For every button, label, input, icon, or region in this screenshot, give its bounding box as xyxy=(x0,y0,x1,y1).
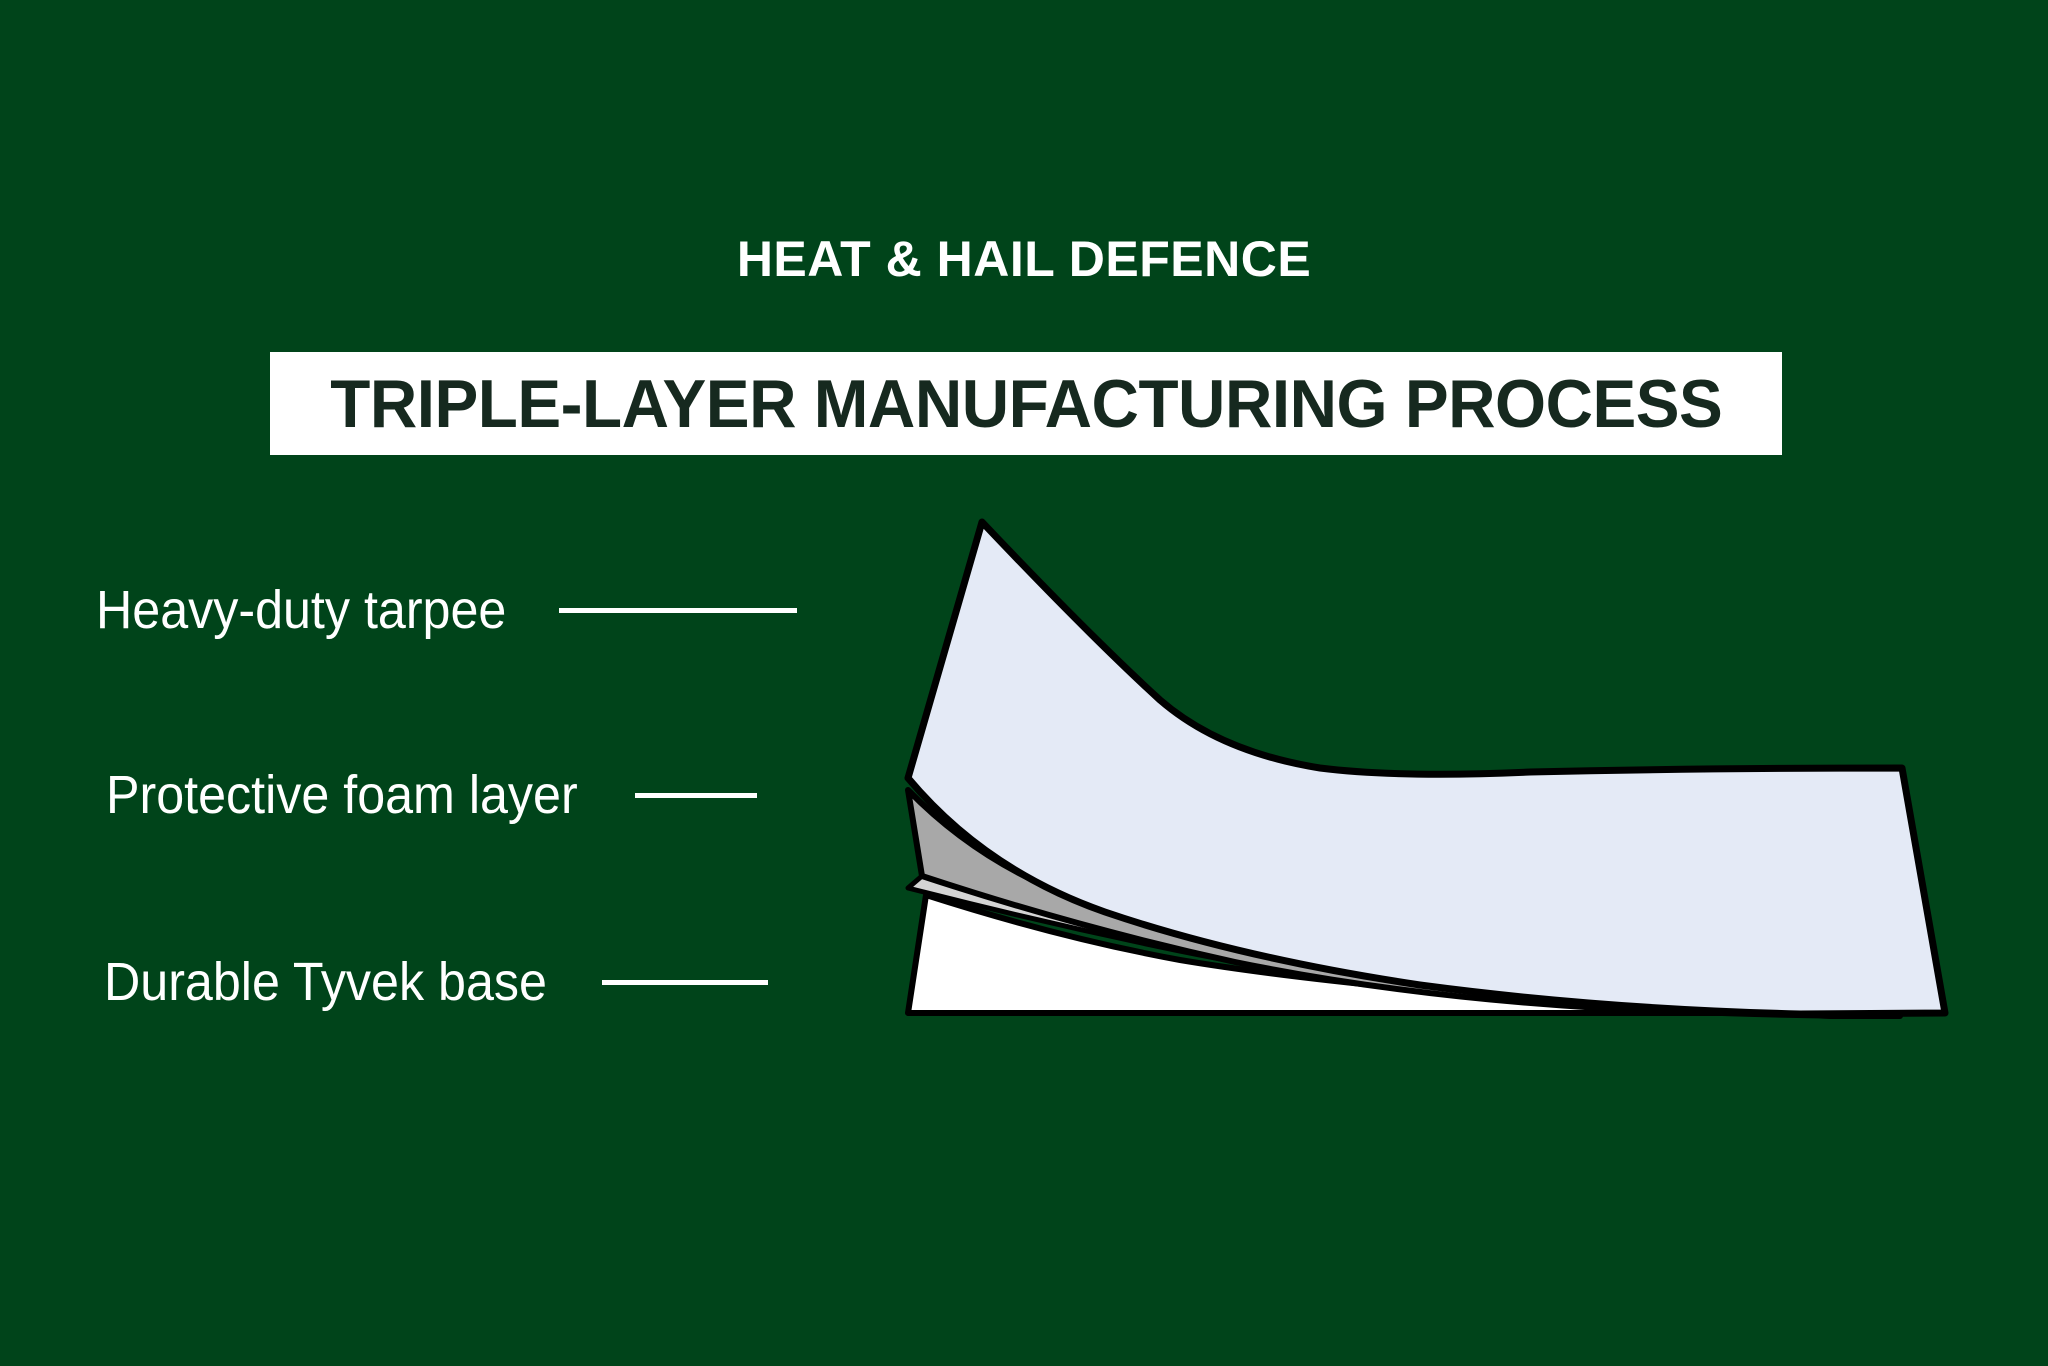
callout-heavy-duty-tarpee: Heavy-duty tarpee xyxy=(96,580,797,640)
callout-protective-foam-layer: Protective foam layer xyxy=(106,765,757,825)
callout-label-tarpee: Heavy-duty tarpee xyxy=(96,583,506,637)
tyvek-layer xyxy=(908,895,1945,1013)
layer-diagram xyxy=(0,0,2048,1366)
page-headline: HEAT & HAIL DEFENCE xyxy=(0,234,2048,284)
tarpee-layer xyxy=(908,522,1945,1014)
leader-line-tyvek xyxy=(602,980,768,985)
leader-line-tarpee xyxy=(559,608,797,613)
foam-sub-film xyxy=(908,876,1890,1014)
foam-layer xyxy=(908,790,1900,1016)
banner: TRIPLE-LAYER MANUFACTURING PROCESS xyxy=(270,352,1782,455)
leader-line-foam xyxy=(635,793,757,798)
callout-durable-tyvek-base: Durable Tyvek base xyxy=(104,952,768,1012)
banner-title: TRIPLE-LAYER MANUFACTURING PROCESS xyxy=(330,370,1722,438)
infographic-poster: HEAT & HAIL DEFENCE TRIPLE-LAYER MANUFAC… xyxy=(0,0,2048,1366)
callout-label-foam: Protective foam layer xyxy=(106,768,578,822)
callout-label-tyvek: Durable Tyvek base xyxy=(104,955,547,1009)
